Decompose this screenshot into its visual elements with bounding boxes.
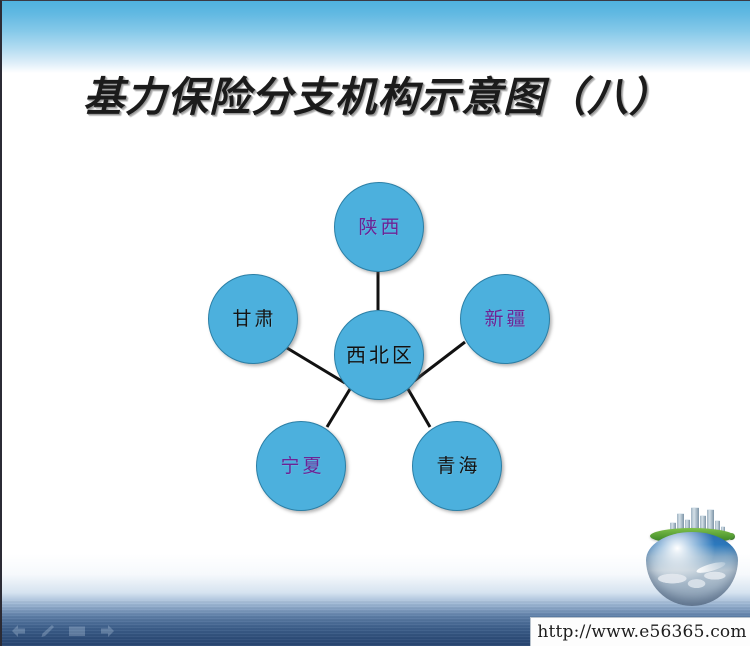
node-shaanxi-label: 陕西 <box>355 218 402 237</box>
arrow-left-icon <box>10 624 27 638</box>
arrow-right-icon <box>99 624 116 638</box>
page-title: 基力保险分支机构示意图（八） <box>2 63 750 123</box>
node-gansu[interactable]: 甘肃 <box>208 274 298 364</box>
globe-city-logo <box>640 506 744 610</box>
node-ningxia-label: 宁夏 <box>277 457 324 476</box>
rectangle-icon <box>68 624 86 638</box>
center-node-label: 西北区 <box>343 345 415 365</box>
node-qinghai[interactable]: 青海 <box>412 421 502 511</box>
site-url[interactable]: http://www.e56365.com <box>537 622 746 642</box>
globe-sphere <box>646 532 738 606</box>
pen-icon <box>40 624 55 638</box>
node-qinghai-label: 青海 <box>433 457 480 476</box>
slide-canvas: 基力保险分支机构示意图（八） 陕西 甘肃 新疆 西北区 宁夏 青海 <box>0 0 750 646</box>
link-center-qinghai <box>408 389 430 427</box>
node-shaanxi[interactable]: 陕西 <box>334 182 424 272</box>
node-xinjiang-label: 新疆 <box>481 310 528 329</box>
node-ningxia[interactable]: 宁夏 <box>256 421 346 511</box>
node-xinjiang[interactable]: 新疆 <box>460 274 550 364</box>
link-center-ningxia <box>327 389 350 427</box>
center-node-northwest-region[interactable]: 西北区 <box>334 310 424 400</box>
node-gansu-label: 甘肃 <box>229 310 276 329</box>
url-bar: http://www.e56365.com <box>530 617 750 646</box>
water-watermark-glyphs <box>10 624 116 638</box>
